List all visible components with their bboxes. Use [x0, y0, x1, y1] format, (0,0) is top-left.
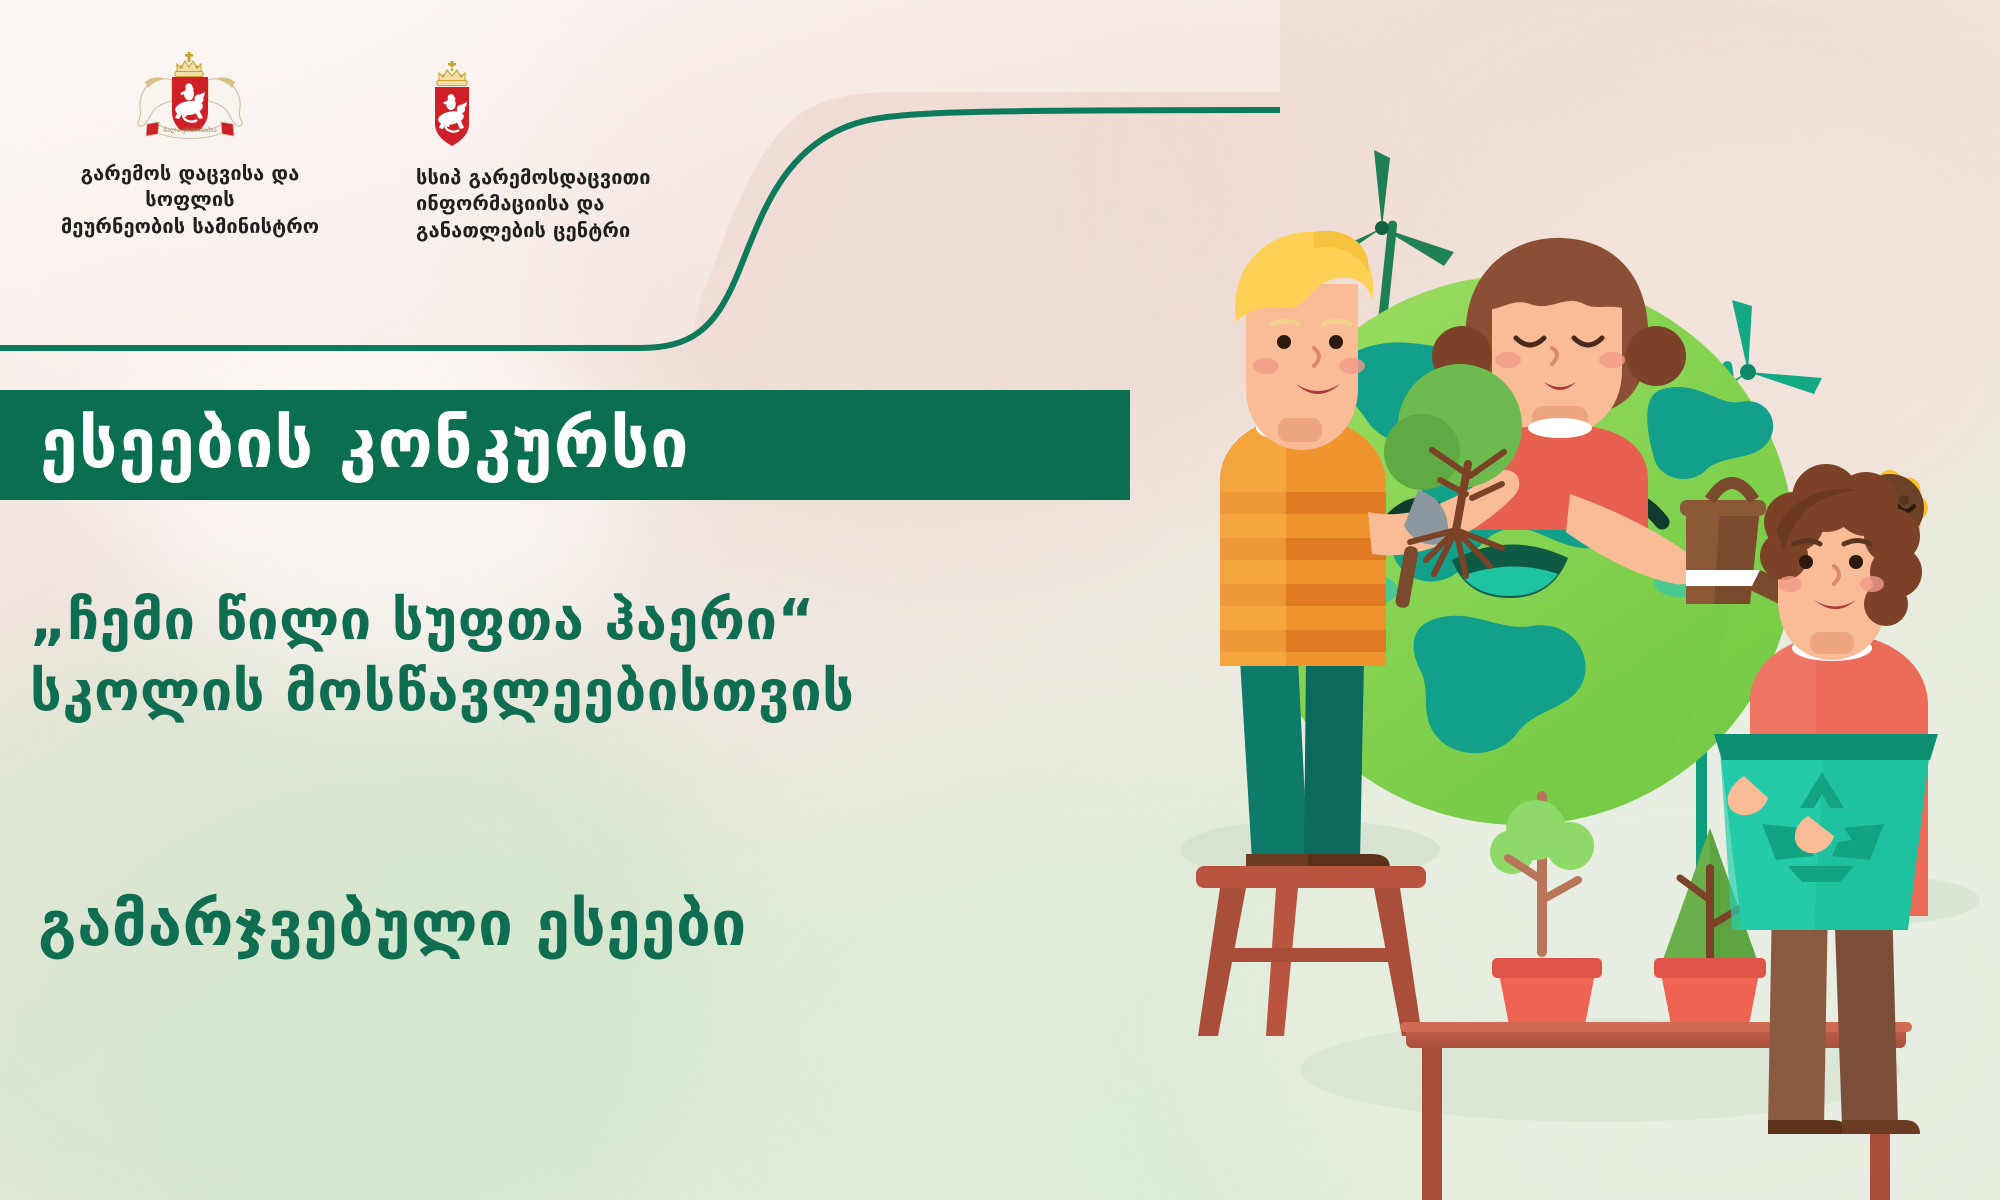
logo-ministry-name-line1: გარემოს დაცვისა და სოფლის	[40, 160, 340, 213]
georgia-coat-of-arms-icon: ძალა ერთობაშია	[125, 50, 255, 146]
logo-center-name-line1: სსიპ გარემოსდაცვითი	[416, 164, 651, 190]
title-banner: ესეების კონკურსი	[0, 390, 1130, 500]
wooden-stool-icon	[1196, 866, 1426, 1036]
potted-plant-icon	[1490, 796, 1602, 1030]
page-title: ესეების კონკურსი	[40, 411, 690, 479]
headline-text: გამარჯვებული ესეები	[38, 890, 1258, 958]
logo-center-name-line2: ინფორმაციისა და	[416, 190, 651, 216]
logo-group: ძალა ერთობაშია გარემოს დაცვისა და სოფლის…	[40, 50, 716, 243]
logo-center: სსიპ გარემოსდაცვითი ინფორმაციისა და განა…	[416, 50, 716, 243]
illustration	[1100, 60, 2000, 1200]
logo-ministry: ძალა ერთობაშია გარემოს დაცვისა და სოფლის…	[40, 50, 340, 239]
logo-ministry-name: გარემოს დაცვისა და სოფლის მეურნეობის სამ…	[40, 160, 340, 239]
subtitle-line-1: „ჩემი წილი სუფთა ჰაერი“	[30, 586, 1250, 657]
subtitle-line-2: სკოლის მოსწავლეებისთვის	[30, 657, 1250, 728]
logo-ministry-name-line2: მეურნეობის სამინისტრო	[40, 213, 340, 239]
logo-center-name: სსიპ გარემოსდაცვითი ინფორმაციისა და განა…	[416, 164, 651, 243]
svg-text:ძალა ერთობაშია: ძალა ერთობაშია	[163, 125, 217, 134]
headline-block: გამარჯვებული ესეები	[38, 890, 1258, 958]
logo-center-name-line3: განათლების ცენტრი	[416, 217, 651, 243]
banner-root: ძალა ერთობაშია გარემოს დაცვისა და სოფლის…	[0, 0, 2000, 1200]
georgia-shield-crown-icon	[416, 58, 488, 154]
subtitle-block: „ჩემი წილი სუფთა ჰაერი“ სკოლის მოსწავლეე…	[30, 586, 1250, 727]
